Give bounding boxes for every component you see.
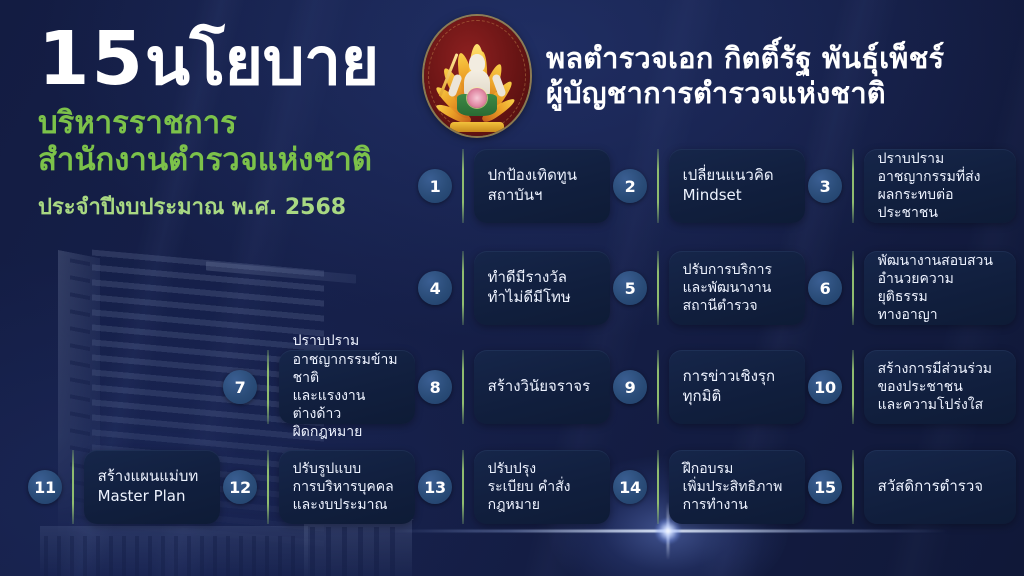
policy-badge: 2 [613,169,647,203]
policy-card[interactable]: ปกป้องเทิดทูน สถาบันฯ [474,149,610,223]
lens-flare-streak [388,530,948,533]
policy-badge: 14 [613,470,647,504]
policy-item-7[interactable]: 7 ปราบปราม อาชญากรรมข้ามชาติ และแรงงานต่… [223,350,415,424]
policy-item-14[interactable]: 14 ฝึกอบรม เพิ่มประสิทธิภาพ การทำงาน [613,450,805,524]
policy-divider [852,149,854,223]
officer-name: พลตำรวจเอก กิตติ์รัฐ พันธุ์เพ็ชร์ [546,41,944,76]
policy-item-8[interactable]: 8 สร้างวินัยจราจร [418,350,610,424]
policy-text: ปรับรูปแบบ การบริหารบุคคล และงบประมาณ [293,460,394,515]
policy-divider [267,350,269,424]
policy-card[interactable]: สร้างวินัยจราจร [474,350,610,424]
policy-card[interactable]: การข่าวเชิงรุก ทุกมิติ [669,350,805,424]
policy-text: ปราบปราม อาชญากรรมข้ามชาติ และแรงงานต่าง… [293,332,401,441]
policy-badge: 7 [223,370,257,404]
rooftop-sign [206,261,356,283]
headline-number: 15 [38,16,145,102]
policy-card[interactable]: ทำดีมีรางวัล ทำไม่ดีมีโทษ [474,251,610,325]
policy-card[interactable]: ปรับการบริการ และพัฒนางาน สถานีตำรวจ [669,251,805,325]
policy-divider [267,450,269,524]
policy-divider [657,350,659,424]
royal-thai-police-emblem-icon [424,16,530,136]
policy-text: ปรับการบริการ และพัฒนางาน สถานีตำรวจ [683,261,772,316]
policy-divider [462,350,464,424]
policy-card[interactable]: สร้างแผนแม่บท Master Plan [84,450,220,524]
policy-text: ปราบปราม อาชญากรรมที่ส่ง ผลกระทบต่อประชา… [878,150,1002,223]
subheadline-line-1: บริหารราชการ [38,105,237,141]
policy-text: สร้างการมีส่วนร่วม ของประชาชน และความโปร… [878,360,992,415]
policy-badge: 10 [808,370,842,404]
policy-text: ทำดีมีรางวัล ทำไม่ดีมีโทษ [488,268,571,308]
policy-text: สร้างวินัยจราจร [488,377,591,397]
policy-badge: 5 [613,271,647,305]
policy-badge: 11 [28,470,62,504]
policy-item-10[interactable]: 10 สร้างการมีส่วนร่วม ของประชาชน และความ… [808,350,1016,424]
header-identity: พลตำรวจเอก กิตติ์รัฐ พันธุ์เพ็ชร์ ผู้บัญ… [424,16,944,136]
policy-card[interactable]: ปรับปรุง ระเบียบ คำสั่ง กฎหมาย [474,450,610,524]
headline-word: นโยบาย [145,23,379,100]
headline: 15นโยบาย [38,24,428,95]
policy-text: เปลี่ยนแนวคิด Mindset [683,166,774,206]
policy-text: ปกป้องเทิดทูน สถาบันฯ [488,166,577,206]
policy-badge: 8 [418,370,452,404]
lotus-disc-icon [467,88,487,108]
pediment-body [304,519,412,576]
policy-divider [852,251,854,325]
policy-card[interactable]: สวัสดิการตำรวจ [864,450,1016,524]
policy-divider [852,350,854,424]
policy-item-2[interactable]: 2 เปลี่ยนแนวคิด Mindset [613,149,805,223]
policy-card[interactable]: สร้างการมีส่วนร่วม ของประชาชน และความโปร… [864,350,1016,424]
policy-text: ปรับปรุง ระเบียบ คำสั่ง กฎหมาย [488,460,571,515]
policy-card[interactable]: ฝึกอบรม เพิ่มประสิทธิภาพ การทำงาน [669,450,805,524]
title-block: 15นโยบาย บริหารราชการ สำนักงานตำรวจแห่งช… [38,24,428,224]
policy-text: การข่าวเชิงรุก ทุกมิติ [683,367,775,407]
policy-badge: 3 [808,169,842,203]
policy-item-11[interactable]: 11 สร้างแผนแม่บท Master Plan [28,450,220,524]
policy-item-6[interactable]: 6 พัฒนางานสอบสวน อำนวยความยุติธรรม ทางอา… [808,251,1016,325]
policy-text: พัฒนางานสอบสวน อำนวยความยุติธรรม ทางอาญา [878,252,1002,325]
policy-card[interactable]: ปรับรูปแบบ การบริหารบุคคล และงบประมาณ [279,450,415,524]
policy-badge: 15 [808,470,842,504]
policy-item-1[interactable]: 1 ปกป้องเทิดทูน สถาบันฯ [418,149,610,223]
policy-badge: 9 [613,370,647,404]
policy-item-5[interactable]: 5 ปรับการบริการ และพัฒนางาน สถานีตำรวจ [613,251,805,325]
policy-item-4[interactable]: 4 ทำดีมีรางวัล ทำไม่ดีมีโทษ [418,251,610,325]
policy-text: สวัสดิการตำรวจ [878,477,983,497]
policy-badge: 12 [223,470,257,504]
policy-card[interactable]: ปราบปราม อาชญากรรมข้ามชาติ และแรงงานต่าง… [279,350,415,424]
officer-identity-text: พลตำรวจเอก กิตติ์รัฐ พันธุ์เพ็ชร์ ผู้บัญ… [546,41,944,111]
policy-card[interactable]: ปราบปราม อาชญากรรมที่ส่ง ผลกระทบต่อประชา… [864,149,1016,223]
policy-text: ฝึกอบรม เพิ่มประสิทธิภาพ การทำงาน [683,460,783,515]
policy-divider [657,450,659,524]
emblem-base [450,122,504,132]
officer-title: ผู้บัญชาการตำรวจแห่งชาติ [546,76,944,111]
policy-divider [657,251,659,325]
policy-badge: 1 [418,169,452,203]
policy-text: สร้างแผนแม่บท Master Plan [98,467,199,507]
policy-badge: 4 [418,271,452,305]
low-building-block [40,526,308,576]
policy-badge: 13 [418,470,452,504]
subheadline-line-2: สำนักงานตำรวจแห่งชาติ [38,142,428,179]
policy-badge: 6 [808,271,842,305]
policy-item-12[interactable]: 12 ปรับรูปแบบ การบริหารบุคคล และงบประมาณ [223,450,415,524]
policy-item-3[interactable]: 3 ปราบปราม อาชญากรรมที่ส่ง ผลกระทบต่อประ… [808,149,1016,223]
policy-divider [462,450,464,524]
policy-divider [657,149,659,223]
infographic-canvas: 15นโยบาย บริหารราชการ สำนักงานตำรวจแห่งช… [0,0,1024,576]
policy-card[interactable]: พัฒนางานสอบสวน อำนวยความยุติธรรม ทางอาญา [864,251,1016,325]
policy-divider [462,149,464,223]
policy-item-15[interactable]: 15 สวัสดิการตำรวจ [808,450,1016,524]
subheadline: บริหารราชการ สำนักงานตำรวจแห่งชาติ [38,105,428,178]
policy-divider [462,251,464,325]
fiscal-year-label: ประจำปีงบประมาณ พ.ศ. 2568 [38,189,428,224]
policy-divider [852,450,854,524]
policy-item-9[interactable]: 9 การข่าวเชิงรุก ทุกมิติ [613,350,805,424]
policy-divider [72,450,74,524]
policy-card[interactable]: เปลี่ยนแนวคิด Mindset [669,149,805,223]
policy-item-13[interactable]: 13 ปรับปรุง ระเบียบ คำสั่ง กฎหมาย [418,450,610,524]
